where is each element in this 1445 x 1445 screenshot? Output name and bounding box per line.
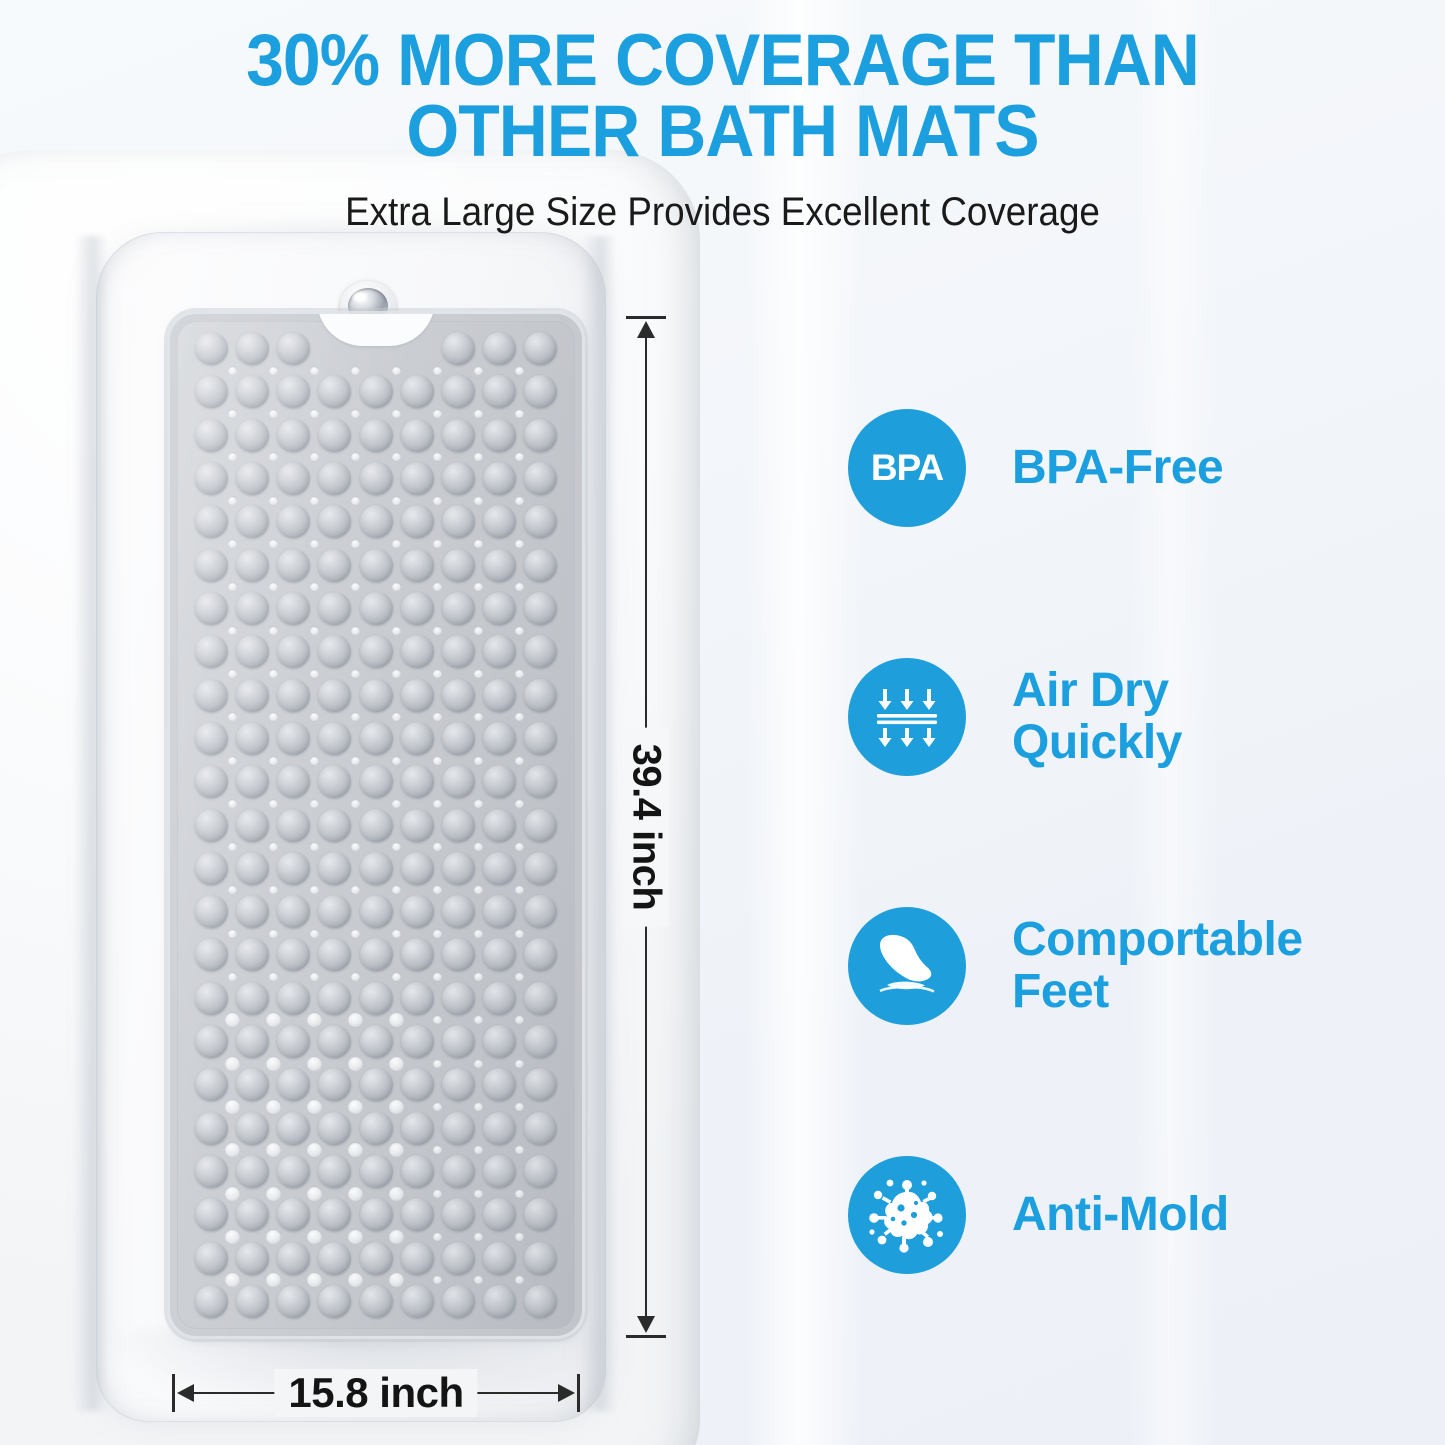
- drainage-hole: [474, 539, 483, 548]
- drainage-hole: [474, 1145, 483, 1154]
- suction-bump: [360, 895, 393, 928]
- suction-bump: [442, 1285, 475, 1318]
- width-dimension-cap-left: [172, 1374, 175, 1412]
- suction-bump: [236, 1068, 269, 1101]
- drainage-hole: [433, 1059, 442, 1068]
- drainage-hole: [474, 1015, 483, 1024]
- suction-bump: [360, 982, 393, 1015]
- feature-label-anti-mold: Anti-Mold: [1012, 1189, 1229, 1241]
- drainage-hole: [515, 1015, 524, 1024]
- drainage-hole: [310, 712, 319, 721]
- suction-bump: [236, 592, 269, 625]
- suction-bump: [195, 722, 228, 755]
- suction-bump: [483, 549, 516, 582]
- suction-bump: [318, 895, 351, 928]
- suction-bump: [195, 938, 228, 971]
- suction-bump: [360, 592, 393, 625]
- suction-bump: [483, 505, 516, 538]
- drainage-hole: [228, 929, 237, 938]
- drainage-hole: [269, 972, 278, 981]
- drainage-hole: [266, 1272, 281, 1287]
- bathtub-right-crease: [582, 236, 616, 1411]
- suction-bump: [483, 419, 516, 452]
- suction-bump: [442, 1068, 475, 1101]
- suction-bump: [236, 1242, 269, 1275]
- drainage-hole: [228, 626, 237, 635]
- drainage-hole: [392, 452, 401, 461]
- suction-bump: [360, 462, 393, 495]
- suction-bump: [442, 1112, 475, 1145]
- drainage-hole: [474, 582, 483, 591]
- suction-bump: [524, 1285, 557, 1318]
- suction-bump: [483, 592, 516, 625]
- suction-bump: [318, 1025, 351, 1058]
- drainage-hole: [433, 799, 442, 808]
- drainage-hole: [228, 885, 237, 894]
- drainage-hole: [474, 1102, 483, 1111]
- drainage-hole: [269, 842, 278, 851]
- suction-bump: [318, 1068, 351, 1101]
- suction-bump: [360, 1068, 393, 1101]
- suction-bump: [318, 722, 351, 755]
- suction-bump: [401, 1112, 434, 1145]
- width-arrow-right-icon: [558, 1384, 575, 1402]
- suction-bump: [524, 419, 557, 452]
- feature-label-bpa-free: BPA-Free: [1012, 442, 1223, 494]
- suction-bump: [277, 635, 310, 668]
- suction-bump: [442, 895, 475, 928]
- suction-bump: [277, 938, 310, 971]
- drainage-hole: [348, 1142, 363, 1157]
- drainage-hole: [515, 539, 524, 548]
- suction-bump: [277, 505, 310, 538]
- suction-bump: [277, 1285, 310, 1318]
- suction-bump: [195, 809, 228, 842]
- suction-bump: [277, 462, 310, 495]
- suction-bump: [442, 332, 475, 365]
- suction-bump: [277, 419, 310, 452]
- suction-bump: [277, 1068, 310, 1101]
- suction-bump: [195, 679, 228, 712]
- suction-bump: [483, 1198, 516, 1231]
- suction-bump: [236, 1025, 269, 1058]
- drainage-hole: [389, 1272, 404, 1287]
- drainage-hole: [392, 539, 401, 548]
- drainage-hole: [269, 496, 278, 505]
- suction-bump: [236, 938, 269, 971]
- suction-bump: [277, 679, 310, 712]
- drainage-hole: [474, 756, 483, 765]
- suction-bump: [277, 982, 310, 1015]
- drainage-hole: [348, 1229, 363, 1244]
- drainage-hole: [228, 539, 237, 548]
- drainage-hole: [515, 496, 524, 505]
- suction-bump: [401, 722, 434, 755]
- height-dimension-cap-top: [626, 316, 666, 319]
- suction-bump: [318, 462, 351, 495]
- feature-list: BPA BPA-Free: [848, 404, 1408, 1279]
- drainage-hole: [310, 539, 319, 548]
- drainage-hole: [266, 1056, 281, 1071]
- suction-bump: [236, 722, 269, 755]
- suction-bump: [401, 592, 434, 625]
- drainage-hole: [351, 885, 360, 894]
- drainage-hole: [351, 582, 360, 591]
- drainage-hole: [433, 1232, 442, 1241]
- bath-mat-surface: [177, 321, 575, 1329]
- suction-bump: [277, 592, 310, 625]
- suction-bump: [360, 1198, 393, 1231]
- suction-bump: [318, 635, 351, 668]
- drainage-hole: [515, 452, 524, 461]
- drainage-hole: [310, 842, 319, 851]
- suction-bump: [524, 679, 557, 712]
- suction-bump: [360, 1025, 393, 1058]
- drainage-hole: [310, 929, 319, 938]
- height-arrow-up-icon: [637, 321, 655, 338]
- suction-bump: [318, 592, 351, 625]
- drainage-hole: [225, 1142, 240, 1157]
- suction-bump: [236, 635, 269, 668]
- drainage-hole: [515, 669, 524, 678]
- drainage-hole: [433, 972, 442, 981]
- drainage-hole: [269, 366, 278, 375]
- suction-bump: [360, 375, 393, 408]
- suction-bump: [401, 375, 434, 408]
- suction-bump: [401, 809, 434, 842]
- suction-bump: [483, 765, 516, 798]
- suction-bump: [442, 635, 475, 668]
- suction-bump: [524, 592, 557, 625]
- drainage-hole: [392, 626, 401, 635]
- suction-bump: [360, 549, 393, 582]
- drainage-hole: [392, 972, 401, 981]
- suction-bump: [401, 505, 434, 538]
- drainage-hole: [515, 1232, 524, 1241]
- drainage-hole: [228, 409, 237, 418]
- suction-bump: [195, 549, 228, 582]
- feature-label-line-1: Comportable: [1012, 913, 1303, 966]
- drainage-hole: [228, 756, 237, 765]
- suction-bump: [442, 938, 475, 971]
- suction-bump: [195, 462, 228, 495]
- drainage-hole: [392, 669, 401, 678]
- drainage-hole: [433, 1189, 442, 1198]
- suction-bump: [483, 462, 516, 495]
- suction-bump: [277, 375, 310, 408]
- drainage-hole: [474, 366, 483, 375]
- suction-bump: [360, 635, 393, 668]
- suction-bump: [483, 375, 516, 408]
- suction-bump: [195, 332, 228, 365]
- suction-bump: [442, 679, 475, 712]
- suction-bump: [318, 1242, 351, 1275]
- mold-germ-icon: [848, 1156, 966, 1274]
- drainage-hole: [515, 1145, 524, 1154]
- suction-bump: [195, 765, 228, 798]
- drainage-hole: [474, 1275, 483, 1284]
- drainage-hole: [269, 626, 278, 635]
- suction-bump: [442, 549, 475, 582]
- drainage-hole: [392, 885, 401, 894]
- drainage-hole: [269, 582, 278, 591]
- drainage-hole: [474, 929, 483, 938]
- feature-item-air-dry: Air Dry Quickly: [848, 653, 1408, 781]
- suction-bump: [442, 1198, 475, 1231]
- drainage-hole: [269, 452, 278, 461]
- drainage-hole: [225, 1272, 240, 1287]
- drainage-hole: [351, 712, 360, 721]
- suction-bump: [442, 462, 475, 495]
- suction-bump: [524, 462, 557, 495]
- drainage-hole: [474, 409, 483, 418]
- suction-bump: [195, 982, 228, 1015]
- suction-bump: [524, 809, 557, 842]
- drainage-hole: [225, 1099, 240, 1114]
- width-dimension-label: 15.8 inch: [274, 1369, 477, 1417]
- feature-label-line-2: Quickly: [1012, 717, 1182, 769]
- drainage-hole: [225, 1056, 240, 1071]
- suction-bump: [236, 1155, 269, 1188]
- suction-bump: [483, 809, 516, 842]
- drainage-hole: [474, 799, 483, 808]
- drainage-hole: [228, 799, 237, 808]
- drainage-hole: [348, 1056, 363, 1071]
- drainage-hole: [474, 452, 483, 461]
- suction-bump: [442, 722, 475, 755]
- drain-highlight: [353, 292, 367, 302]
- width-dimension-cap-right: [577, 1374, 580, 1412]
- drainage-hole: [310, 452, 319, 461]
- drainage-hole: [228, 669, 237, 678]
- suction-bump: [524, 1068, 557, 1101]
- drainage-hole: [266, 1229, 281, 1244]
- drainage-hole: [433, 929, 442, 938]
- drainage-hole: [351, 626, 360, 635]
- drainage-hole: [310, 972, 319, 981]
- suction-bump: [442, 419, 475, 452]
- suction-bump: [236, 332, 269, 365]
- drainage-hole: [351, 539, 360, 548]
- suction-bump: [483, 1285, 516, 1318]
- suction-bump: [524, 982, 557, 1015]
- foot-on-water-icon: [848, 907, 966, 1025]
- drainage-hole: [474, 1232, 483, 1241]
- suction-bump: [195, 505, 228, 538]
- suction-bump: [318, 419, 351, 452]
- drainage-hole: [515, 1059, 524, 1068]
- drainage-hole: [433, 669, 442, 678]
- suction-bump: [236, 679, 269, 712]
- drainage-hole: [228, 366, 237, 375]
- drainage-hole: [474, 496, 483, 505]
- suction-bump: [318, 852, 351, 885]
- headline-line-2: OTHER BATH MATS: [51, 97, 1395, 168]
- drainage-hole: [515, 582, 524, 591]
- drainage-hole: [310, 799, 319, 808]
- drainage-hole: [515, 1275, 524, 1284]
- drainage-hole: [310, 885, 319, 894]
- drainage-hole: [351, 929, 360, 938]
- drainage-hole: [228, 582, 237, 591]
- suction-bump: [360, 1285, 393, 1318]
- suction-bump: [236, 1198, 269, 1231]
- suction-bump: [524, 375, 557, 408]
- suction-bump: [442, 765, 475, 798]
- drainage-hole: [433, 885, 442, 894]
- drainage-hole: [351, 669, 360, 678]
- drainage-hole: [433, 1102, 442, 1111]
- suction-bump: [360, 765, 393, 798]
- suction-bump: [524, 895, 557, 928]
- drainage-hole: [228, 972, 237, 981]
- drainage-hole: [266, 1099, 281, 1114]
- drainage-hole: [392, 409, 401, 418]
- drainage-hole: [269, 756, 278, 765]
- suction-bump: [195, 1112, 228, 1145]
- suction-bump: [236, 895, 269, 928]
- feature-item-bpa-free: BPA BPA-Free: [848, 404, 1408, 532]
- suction-bump: [360, 809, 393, 842]
- suction-bump: [236, 375, 269, 408]
- suction-bump: [401, 1025, 434, 1058]
- suction-bump: [524, 765, 557, 798]
- suction-bump-grid: [177, 321, 575, 1329]
- suction-bump: [401, 679, 434, 712]
- drainage-hole: [310, 582, 319, 591]
- feature-label-air-dry: Air Dry Quickly: [1012, 665, 1182, 769]
- drainage-hole: [515, 756, 524, 765]
- drainage-hole: [307, 1056, 322, 1071]
- suction-bump: [195, 1198, 228, 1231]
- drainage-hole: [266, 1012, 281, 1027]
- drainage-hole: [307, 1186, 322, 1201]
- drainage-hole: [228, 712, 237, 721]
- suction-bump: [277, 1025, 310, 1058]
- drainage-hole: [392, 756, 401, 765]
- suction-bump: [524, 332, 557, 365]
- suction-bump: [524, 635, 557, 668]
- drainage-hole: [269, 929, 278, 938]
- suction-bump: [236, 462, 269, 495]
- drainage-hole: [433, 496, 442, 505]
- drainage-hole: [433, 626, 442, 635]
- suction-bump: [236, 852, 269, 885]
- suction-bump: [483, 1242, 516, 1275]
- drainage-hole: [351, 756, 360, 765]
- air-dry-arrows-icon: [848, 658, 966, 776]
- suction-bump: [524, 549, 557, 582]
- suction-bump: [277, 332, 310, 365]
- drainage-hole: [228, 452, 237, 461]
- suction-bump: [401, 982, 434, 1015]
- drainage-hole: [474, 1189, 483, 1198]
- suction-bump: [401, 1198, 434, 1231]
- drainage-hole: [351, 496, 360, 505]
- suction-bump: [442, 852, 475, 885]
- suction-bump: [236, 1285, 269, 1318]
- drainage-hole: [474, 712, 483, 721]
- drainage-hole: [474, 626, 483, 635]
- drainage-hole: [474, 1059, 483, 1068]
- drainage-hole: [348, 1186, 363, 1201]
- drainage-hole: [228, 842, 237, 851]
- suction-bump: [401, 852, 434, 885]
- drainage-hole: [307, 1272, 322, 1287]
- bathtub-left-crease: [74, 236, 108, 1411]
- suction-bump: [483, 679, 516, 712]
- suction-bump: [483, 722, 516, 755]
- suction-bump: [195, 1025, 228, 1058]
- suction-bump: [401, 549, 434, 582]
- suction-bump: [318, 679, 351, 712]
- suction-bump: [318, 505, 351, 538]
- suction-bump: [483, 1155, 516, 1188]
- drainage-hole: [228, 496, 237, 505]
- suction-bump: [195, 419, 228, 452]
- headline-line-1: 30% MORE COVERAGE THAN: [246, 20, 1199, 101]
- suction-bump: [442, 1155, 475, 1188]
- suction-bump: [195, 1068, 228, 1101]
- drainage-hole: [310, 366, 319, 375]
- suction-bump: [236, 549, 269, 582]
- drainage-hole: [351, 842, 360, 851]
- suction-bump: [401, 1285, 434, 1318]
- suction-bump: [401, 765, 434, 798]
- suction-bump: [318, 1198, 351, 1231]
- bath-mat: [170, 314, 582, 1336]
- width-arrow-left-icon: [177, 1384, 194, 1402]
- drainage-hole: [392, 582, 401, 591]
- suction-bump: [524, 852, 557, 885]
- drainage-hole: [392, 929, 401, 938]
- suction-bump: [483, 938, 516, 971]
- feature-label-line-1: BPA-Free: [1012, 441, 1223, 494]
- headline-subtitle: Extra Large Size Provides Excellent Cove…: [58, 190, 1387, 235]
- suction-bump: [318, 1112, 351, 1145]
- suction-bump: [401, 938, 434, 971]
- drainage-hole: [433, 409, 442, 418]
- drainage-hole: [392, 712, 401, 721]
- drainage-hole: [269, 885, 278, 894]
- drainage-hole: [307, 1099, 322, 1114]
- suction-bump: [442, 592, 475, 625]
- suction-bump: [195, 592, 228, 625]
- suction-bump: [483, 635, 516, 668]
- suction-bump: [195, 852, 228, 885]
- bpa-icon: BPA: [848, 409, 966, 527]
- drainage-hole: [433, 582, 442, 591]
- suction-bump: [195, 1242, 228, 1275]
- drainage-hole: [433, 756, 442, 765]
- suction-bump: [360, 505, 393, 538]
- suction-bump: [401, 419, 434, 452]
- drainage-hole: [310, 496, 319, 505]
- drainage-hole: [433, 366, 442, 375]
- drainage-hole: [433, 452, 442, 461]
- drainage-hole: [307, 1229, 322, 1244]
- suction-bump: [318, 549, 351, 582]
- drainage-hole: [351, 799, 360, 808]
- suction-bump: [236, 419, 269, 452]
- suction-bump: [524, 1155, 557, 1188]
- drainage-hole: [348, 1099, 363, 1114]
- drainage-hole: [515, 1189, 524, 1198]
- feature-label-line-1: Anti-Mold: [1012, 1188, 1229, 1241]
- feature-item-anti-mold: Anti-Mold: [848, 1151, 1408, 1279]
- suction-bump: [483, 1025, 516, 1058]
- drainage-hole: [515, 972, 524, 981]
